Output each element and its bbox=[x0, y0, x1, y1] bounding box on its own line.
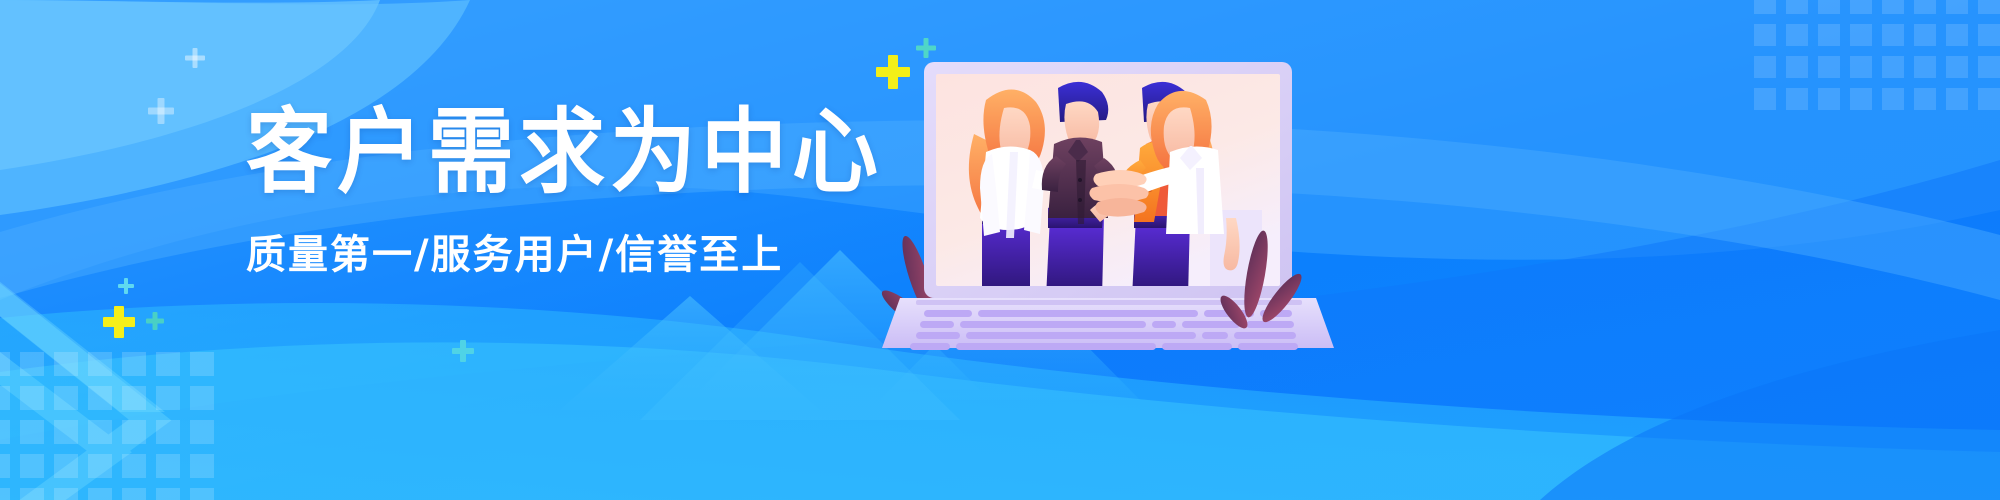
plus-icon-teal-alt bbox=[146, 312, 164, 330]
grid-square bbox=[1882, 24, 1904, 46]
grid-square bbox=[1914, 0, 1936, 14]
grid-square bbox=[0, 386, 10, 410]
grid-square bbox=[190, 352, 214, 376]
grid-square bbox=[1786, 56, 1808, 78]
grid-square bbox=[1978, 88, 2000, 110]
grid-square bbox=[156, 454, 180, 478]
grid-square bbox=[1786, 0, 1808, 14]
grid-square bbox=[1978, 24, 2000, 46]
grid-square bbox=[1850, 0, 1872, 14]
grid-square bbox=[122, 454, 146, 478]
grid-square bbox=[54, 488, 78, 500]
grid-square bbox=[0, 454, 10, 478]
grid-square bbox=[1818, 56, 1840, 78]
grid-square bbox=[1882, 56, 1904, 78]
banner-headline: 客户需求为中心 bbox=[246, 104, 866, 202]
grid-square bbox=[1914, 88, 1936, 110]
plus-icon-white bbox=[185, 48, 205, 68]
plus-icon-teal-mid bbox=[452, 340, 474, 362]
grid-square bbox=[54, 352, 78, 376]
plus-icon-yellow-alt bbox=[103, 306, 135, 338]
grid-square bbox=[1786, 24, 1808, 46]
grid-square bbox=[1818, 24, 1840, 46]
grid-square bbox=[190, 488, 214, 500]
grid-square bbox=[1882, 0, 1904, 14]
banner-subheadline: 质量第一/服务用户/信誉至上 bbox=[246, 222, 866, 280]
grid-square bbox=[1882, 88, 1904, 110]
square-grid-top-right bbox=[1754, 0, 2000, 110]
grid-square bbox=[190, 420, 214, 444]
grid-square bbox=[0, 488, 10, 500]
grid-square bbox=[20, 420, 44, 444]
grid-square bbox=[1914, 24, 1936, 46]
grid-square bbox=[88, 488, 112, 500]
grid-square bbox=[0, 420, 10, 444]
grid-square bbox=[156, 352, 180, 376]
grid-square bbox=[20, 488, 44, 500]
grid-square bbox=[1850, 24, 1872, 46]
grid-square bbox=[54, 454, 78, 478]
grid-square bbox=[88, 386, 112, 410]
plus-icon-white-large bbox=[148, 98, 174, 124]
grid-square bbox=[54, 386, 78, 410]
grid-square bbox=[1946, 24, 1968, 46]
grid-square bbox=[1850, 56, 1872, 78]
grid-square bbox=[156, 488, 180, 500]
grid-square bbox=[156, 386, 180, 410]
banner-text-block: 客户需求为中心 质量第一/服务用户/信誉至上 bbox=[246, 104, 866, 280]
grid-square bbox=[122, 352, 146, 376]
grid-square bbox=[1978, 56, 2000, 78]
grid-square bbox=[20, 352, 44, 376]
grid-square bbox=[1850, 88, 1872, 110]
grid-square bbox=[1818, 88, 1840, 110]
grid-square bbox=[88, 352, 112, 376]
grid-square bbox=[20, 454, 44, 478]
grid-square bbox=[190, 386, 214, 410]
laptop-teamwork-illustration bbox=[890, 48, 1360, 358]
grid-square bbox=[88, 454, 112, 478]
grid-square bbox=[1818, 0, 1840, 14]
grid-square bbox=[1754, 24, 1776, 46]
grid-square bbox=[1946, 56, 1968, 78]
grid-square bbox=[156, 420, 180, 444]
grid-square bbox=[88, 420, 112, 444]
grid-square bbox=[1946, 0, 1968, 14]
stacked-hands bbox=[1089, 170, 1148, 217]
grid-square bbox=[122, 386, 146, 410]
grid-square bbox=[122, 420, 146, 444]
promo-banner: 客户需求为中心 质量第一/服务用户/信誉至上 bbox=[0, 0, 2000, 500]
grid-square bbox=[1978, 0, 2000, 14]
grid-square bbox=[54, 420, 78, 444]
square-grid-bottom-left bbox=[0, 352, 214, 500]
grid-square bbox=[190, 454, 214, 478]
grid-square bbox=[20, 386, 44, 410]
grid-square bbox=[1754, 88, 1776, 110]
plus-icon-cyan bbox=[118, 278, 134, 294]
grid-square bbox=[1754, 0, 1776, 14]
grid-square bbox=[1914, 56, 1936, 78]
grid-square bbox=[1946, 88, 1968, 110]
grid-square bbox=[0, 352, 10, 376]
grid-square bbox=[122, 488, 146, 500]
grid-square bbox=[1754, 56, 1776, 78]
grid-square bbox=[1786, 88, 1808, 110]
